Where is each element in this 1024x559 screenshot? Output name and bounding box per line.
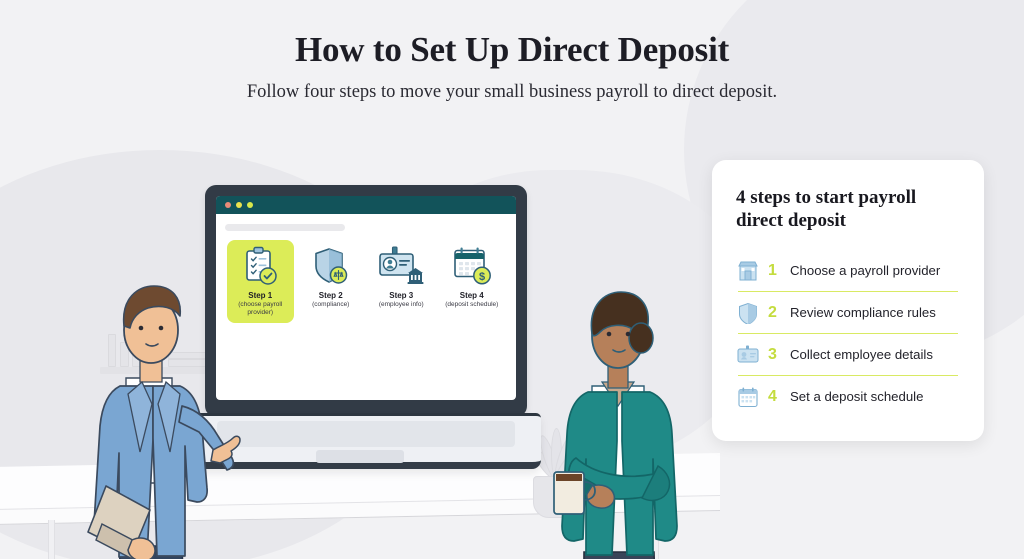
steps-row: Step 1 (choose payroll provider) bbox=[225, 240, 507, 323]
id-badge-icon bbox=[736, 343, 759, 366]
panel-item-number: 2 bbox=[768, 304, 781, 322]
browser-content: Step 1 (choose payroll provider) bbox=[216, 214, 516, 323]
step-label: Step 2 bbox=[300, 291, 363, 300]
calendar-icon bbox=[736, 385, 759, 408]
storefront-icon bbox=[736, 259, 759, 282]
panel-item-3[interactable]: 3 Collect employee details bbox=[736, 334, 960, 375]
laptop-trackpad bbox=[316, 450, 404, 463]
page-subtitle: Follow four steps to move your small bus… bbox=[0, 82, 1024, 103]
illustration-scene: Step 1 (choose payroll provider) bbox=[0, 130, 710, 559]
maximize-dot-icon[interactable] bbox=[247, 202, 253, 208]
step-card-3[interactable]: Step 3 (employee info) bbox=[368, 240, 435, 323]
laptop-lid: Step 1 (choose payroll provider) bbox=[205, 185, 527, 417]
step-label: Step 4 bbox=[441, 291, 504, 300]
panel-title: 4 steps to start payroll direct deposit bbox=[736, 186, 960, 232]
header: How to Set Up Direct Deposit Follow four… bbox=[0, 30, 1024, 103]
woman-holding-coffee-mug bbox=[540, 290, 710, 559]
content-placeholder bbox=[225, 224, 345, 231]
step-label: Step 3 bbox=[370, 291, 433, 300]
close-dot-icon[interactable] bbox=[225, 202, 231, 208]
laptop: Step 1 (choose payroll provider) bbox=[205, 185, 535, 515]
panel-item-2[interactable]: 2 Review compliance rules bbox=[736, 292, 960, 333]
laptop-screen: Step 1 (choose payroll provider) bbox=[216, 196, 516, 400]
panel-item-number: 4 bbox=[768, 388, 781, 406]
steps-panel: 4 steps to start payroll direct deposit … bbox=[712, 160, 984, 441]
panel-item-label: Set a deposit schedule bbox=[790, 389, 923, 404]
step-card-2[interactable]: Step 2 (compliance) bbox=[298, 240, 365, 323]
panel-item-label: Collect employee details bbox=[790, 347, 933, 362]
panel-item-label: Choose a payroll provider bbox=[790, 263, 940, 278]
panel-item-label: Review compliance rules bbox=[790, 305, 936, 320]
page-title: How to Set Up Direct Deposit bbox=[0, 30, 1024, 70]
shield-scales-icon bbox=[300, 245, 363, 289]
step-sublabel: (employee info) bbox=[370, 301, 433, 309]
panel-item-1[interactable]: 1 Choose a payroll provider bbox=[736, 250, 960, 291]
panel-item-number: 3 bbox=[768, 346, 781, 364]
man-pointing-at-laptop bbox=[62, 278, 247, 559]
shield-icon bbox=[736, 301, 759, 324]
step-sublabel: (deposit schedule) bbox=[441, 301, 504, 309]
minimize-dot-icon[interactable] bbox=[236, 202, 242, 208]
id-card-bank-icon bbox=[370, 245, 433, 289]
svg-text:$: $ bbox=[479, 271, 485, 283]
browser-title-bar bbox=[216, 196, 516, 214]
panel-item-number: 1 bbox=[768, 262, 781, 280]
calendar-dollar-icon: $ bbox=[441, 245, 504, 289]
desk-leg bbox=[48, 520, 55, 559]
laptop-keyboard bbox=[217, 421, 515, 447]
step-card-4[interactable]: $ Step 4 (deposit schedule) bbox=[439, 240, 506, 323]
panel-item-4[interactable]: 4 Set a deposit schedule bbox=[736, 376, 960, 417]
step-sublabel: (compliance) bbox=[300, 301, 363, 309]
